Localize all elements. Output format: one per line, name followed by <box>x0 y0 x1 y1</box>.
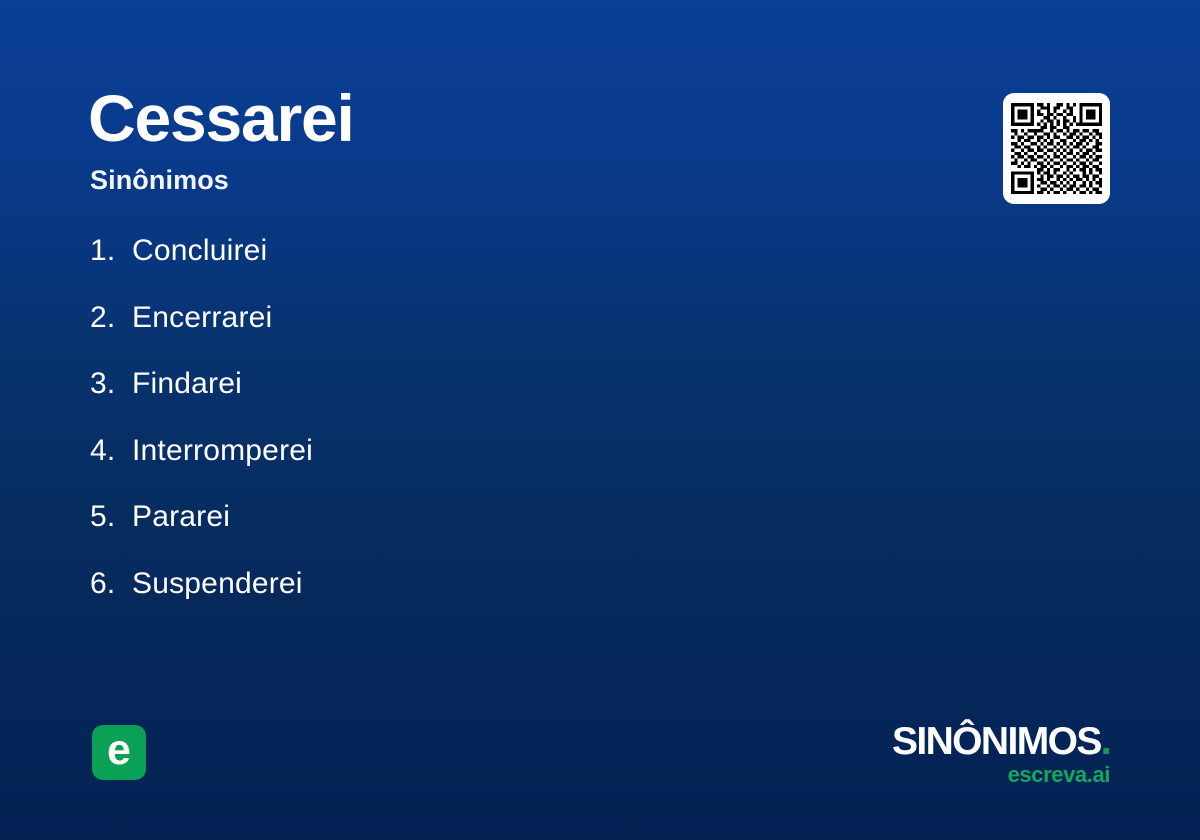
footer-brand-name: SINÔNIMOS. <box>892 722 1110 761</box>
escreva-logo-icon[interactable]: e <box>92 725 146 780</box>
list-item-label: Suspenderei <box>132 569 303 599</box>
list-item-index: 1. <box>90 236 132 266</box>
list-item-index: 5. <box>90 502 132 532</box>
list-item-index: 2. <box>90 303 132 333</box>
list-item-index: 3. <box>90 369 132 399</box>
list-item-label: Pararei <box>132 502 230 532</box>
footer-brand-domain: escreva.ai <box>892 764 1110 786</box>
footer-brand-dot: . <box>1101 720 1110 763</box>
list-item: 3.Findarei <box>90 369 910 436</box>
list-item-label: Interromperei <box>132 436 313 466</box>
list-item-label: Concluirei <box>132 236 267 266</box>
page-title: Cessarei <box>88 85 354 151</box>
footer-brand-lockup[interactable]: SINÔNIMOS. escreva.ai <box>892 722 1110 786</box>
synonym-card: Cessarei Sinônimos 1.Concluirei2.Encerra… <box>0 0 1200 840</box>
synonym-list: 1.Concluirei2.Encerrarei3.Findarei4.Inte… <box>90 236 910 635</box>
page-subtitle: Sinônimos <box>90 167 229 194</box>
list-item-label: Findarei <box>132 369 242 399</box>
list-item: 2.Encerrarei <box>90 303 910 370</box>
qr-code-icon <box>1011 102 1102 195</box>
escreva-logo-letter: e <box>107 729 131 772</box>
list-item-label: Encerrarei <box>132 303 272 333</box>
list-item: 4.Interromperei <box>90 436 910 503</box>
list-item: 1.Concluirei <box>90 236 910 303</box>
list-item-index: 4. <box>90 436 132 466</box>
list-item: 6.Suspenderei <box>90 569 910 636</box>
list-item-index: 6. <box>90 569 132 599</box>
list-item: 5.Pararei <box>90 502 910 569</box>
qr-code-card[interactable] <box>1003 93 1110 204</box>
